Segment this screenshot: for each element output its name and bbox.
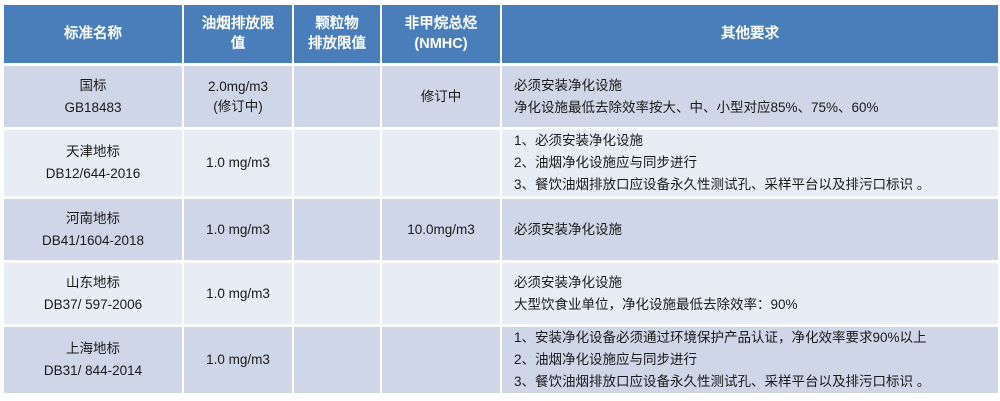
other-requirement-line-2: 2、油烟净化设施应与同步进行 [514,349,992,371]
standard-name-line-1: 天津地标 [10,141,176,163]
table-row: 天津地标 DB12/644-2016 1.0 mg/m3 1、必须安装净化设施 … [4,130,998,196]
cell-particulate-limit [294,327,380,393]
cell-fume-limit: 1.0 mg/m3 [184,263,292,324]
column-header-nmhc-line-2: (NMHC) [386,34,496,54]
cell-particulate-limit [294,263,380,324]
nmhc-line-1: 10.0mg/m3 [388,220,494,240]
standards-table-container: 标准名称 油烟排放限 值 颗粒物 排放限值 非甲烷总烃 (NMHC) 其他要求 [0,0,1000,401]
column-header-nmhc-line-1: 非甲烷总烃 [386,14,496,34]
cell-other-requirements: 1、必须安装净化设施 2、油烟净化设施应与同步进行 3、餐饮油烟排放口应设备永久… [502,130,998,196]
fume-limit-line-1: 1.0 mg/m3 [190,350,286,370]
other-requirement-line-2: 2、油烟净化设施应与同步进行 [514,152,992,174]
column-header-particulate-limit-line-2: 排放限值 [298,34,376,54]
other-requirement-line-1: 必须安装净化设施 [514,219,992,241]
cell-other-requirements: 必须安装净化设施 [502,199,998,260]
column-header-other-requirements-line-1: 其他要求 [506,24,994,44]
table-body: 国标 GB18483 2.0mg/m3 (修订中) 修订中 必须安装净化设施 净… [4,66,998,393]
fume-limit-line-2: (修订中) [190,97,286,117]
cell-other-requirements: 必须安装净化设施 净化设施最低去除效率按大、中、小型对应85%、75%、60% [502,66,998,127]
cell-particulate-limit [294,66,380,127]
cell-standard-name: 上海地标 DB31/ 844-2014 [4,327,182,393]
standard-name-line-1: 山东地标 [10,272,176,294]
table-row: 上海地标 DB31/ 844-2014 1.0 mg/m3 1、安装净化设备必须… [4,327,998,393]
column-header-nmhc: 非甲烷总烃 (NMHC) [382,5,500,63]
cell-particulate-limit [294,199,380,260]
other-requirement-line-1: 必须安装净化设施 [514,272,992,294]
column-header-fume-limit-line-2: 值 [188,34,288,54]
cell-other-requirements: 必须安装净化设施 大型饮食业单位，净化设施最低去除效率：90% [502,263,998,324]
column-header-standard-name-line-1: 标准名称 [8,24,178,44]
cell-nmhc [382,263,500,324]
cell-nmhc: 10.0mg/m3 [382,199,500,260]
fume-limit-line-1: 1.0 mg/m3 [190,220,286,240]
table-row: 河南地标 DB41/1604-2018 1.0 mg/m3 10.0mg/m3 … [4,199,998,260]
cell-standard-name: 天津地标 DB12/644-2016 [4,130,182,196]
fume-limit-line-1: 2.0mg/m3 [190,77,286,97]
other-requirement-line-1: 必须安装净化设施 [514,75,992,97]
cell-nmhc: 修订中 [382,66,500,127]
other-requirement-line-3: 3、餐饮油烟排放口应设备永久性测试孔、采样平台以及排污口标识 。 [514,371,992,393]
other-requirement-line-1: 1、安装净化设备必须通过环境保护产品认证，净化效率要求90%以上 [514,327,992,349]
table-row: 国标 GB18483 2.0mg/m3 (修订中) 修订中 必须安装净化设施 净… [4,66,998,127]
cell-fume-limit: 1.0 mg/m3 [184,199,292,260]
table-header: 标准名称 油烟排放限 值 颗粒物 排放限值 非甲烷总烃 (NMHC) 其他要求 [4,5,998,63]
cell-nmhc [382,130,500,196]
fume-limit-line-1: 1.0 mg/m3 [190,153,286,173]
cell-nmhc [382,327,500,393]
table-header-row: 标准名称 油烟排放限 值 颗粒物 排放限值 非甲烷总烃 (NMHC) 其他要求 [4,5,998,63]
cell-standard-name: 国标 GB18483 [4,66,182,127]
standard-code-line: DB31/ 844-2014 [10,360,176,382]
standard-code-line: DB41/1604-2018 [10,230,176,252]
column-header-fume-limit-line-1: 油烟排放限 [188,14,288,34]
other-requirement-line-2: 净化设施最低去除效率按大、中、小型对应85%、75%、60% [514,97,992,119]
cell-particulate-limit [294,130,380,196]
standard-code-line: DB37/ 597-2006 [10,294,176,316]
other-requirement-line-2: 大型饮食业单位，净化设施最低去除效率：90% [514,294,992,316]
column-header-particulate-limit: 颗粒物 排放限值 [294,5,380,63]
other-requirement-line-1: 1、必须安装净化设施 [514,130,992,152]
fume-limit-line-1: 1.0 mg/m3 [190,284,286,304]
standard-name-line-1: 国标 [10,75,176,97]
cell-other-requirements: 1、安装净化设备必须通过环境保护产品认证，净化效率要求90%以上 2、油烟净化设… [502,327,998,393]
other-requirement-line-3: 3、餐饮油烟排放口应设备永久性测试孔、采样平台以及排污口标识 。 [514,174,992,196]
standard-name-line-1: 上海地标 [10,338,176,360]
cell-fume-limit: 2.0mg/m3 (修订中) [184,66,292,127]
column-header-other-requirements: 其他要求 [502,5,998,63]
cell-fume-limit: 1.0 mg/m3 [184,130,292,196]
standard-code-line: DB12/644-2016 [10,163,176,185]
cell-fume-limit: 1.0 mg/m3 [184,327,292,393]
column-header-particulate-limit-line-1: 颗粒物 [298,14,376,34]
cell-standard-name: 河南地标 DB41/1604-2018 [4,199,182,260]
nmhc-line-1: 修订中 [388,87,494,107]
table-row: 山东地标 DB37/ 597-2006 1.0 mg/m3 必须安装净化设施 大… [4,263,998,324]
cell-standard-name: 山东地标 DB37/ 597-2006 [4,263,182,324]
standard-name-line-1: 河南地标 [10,208,176,230]
column-header-fume-limit: 油烟排放限 值 [184,5,292,63]
emission-standards-table: 标准名称 油烟排放限 值 颗粒物 排放限值 非甲烷总烃 (NMHC) 其他要求 [2,2,1000,396]
column-header-standard-name: 标准名称 [4,5,182,63]
standard-code-line: GB18483 [10,97,176,119]
